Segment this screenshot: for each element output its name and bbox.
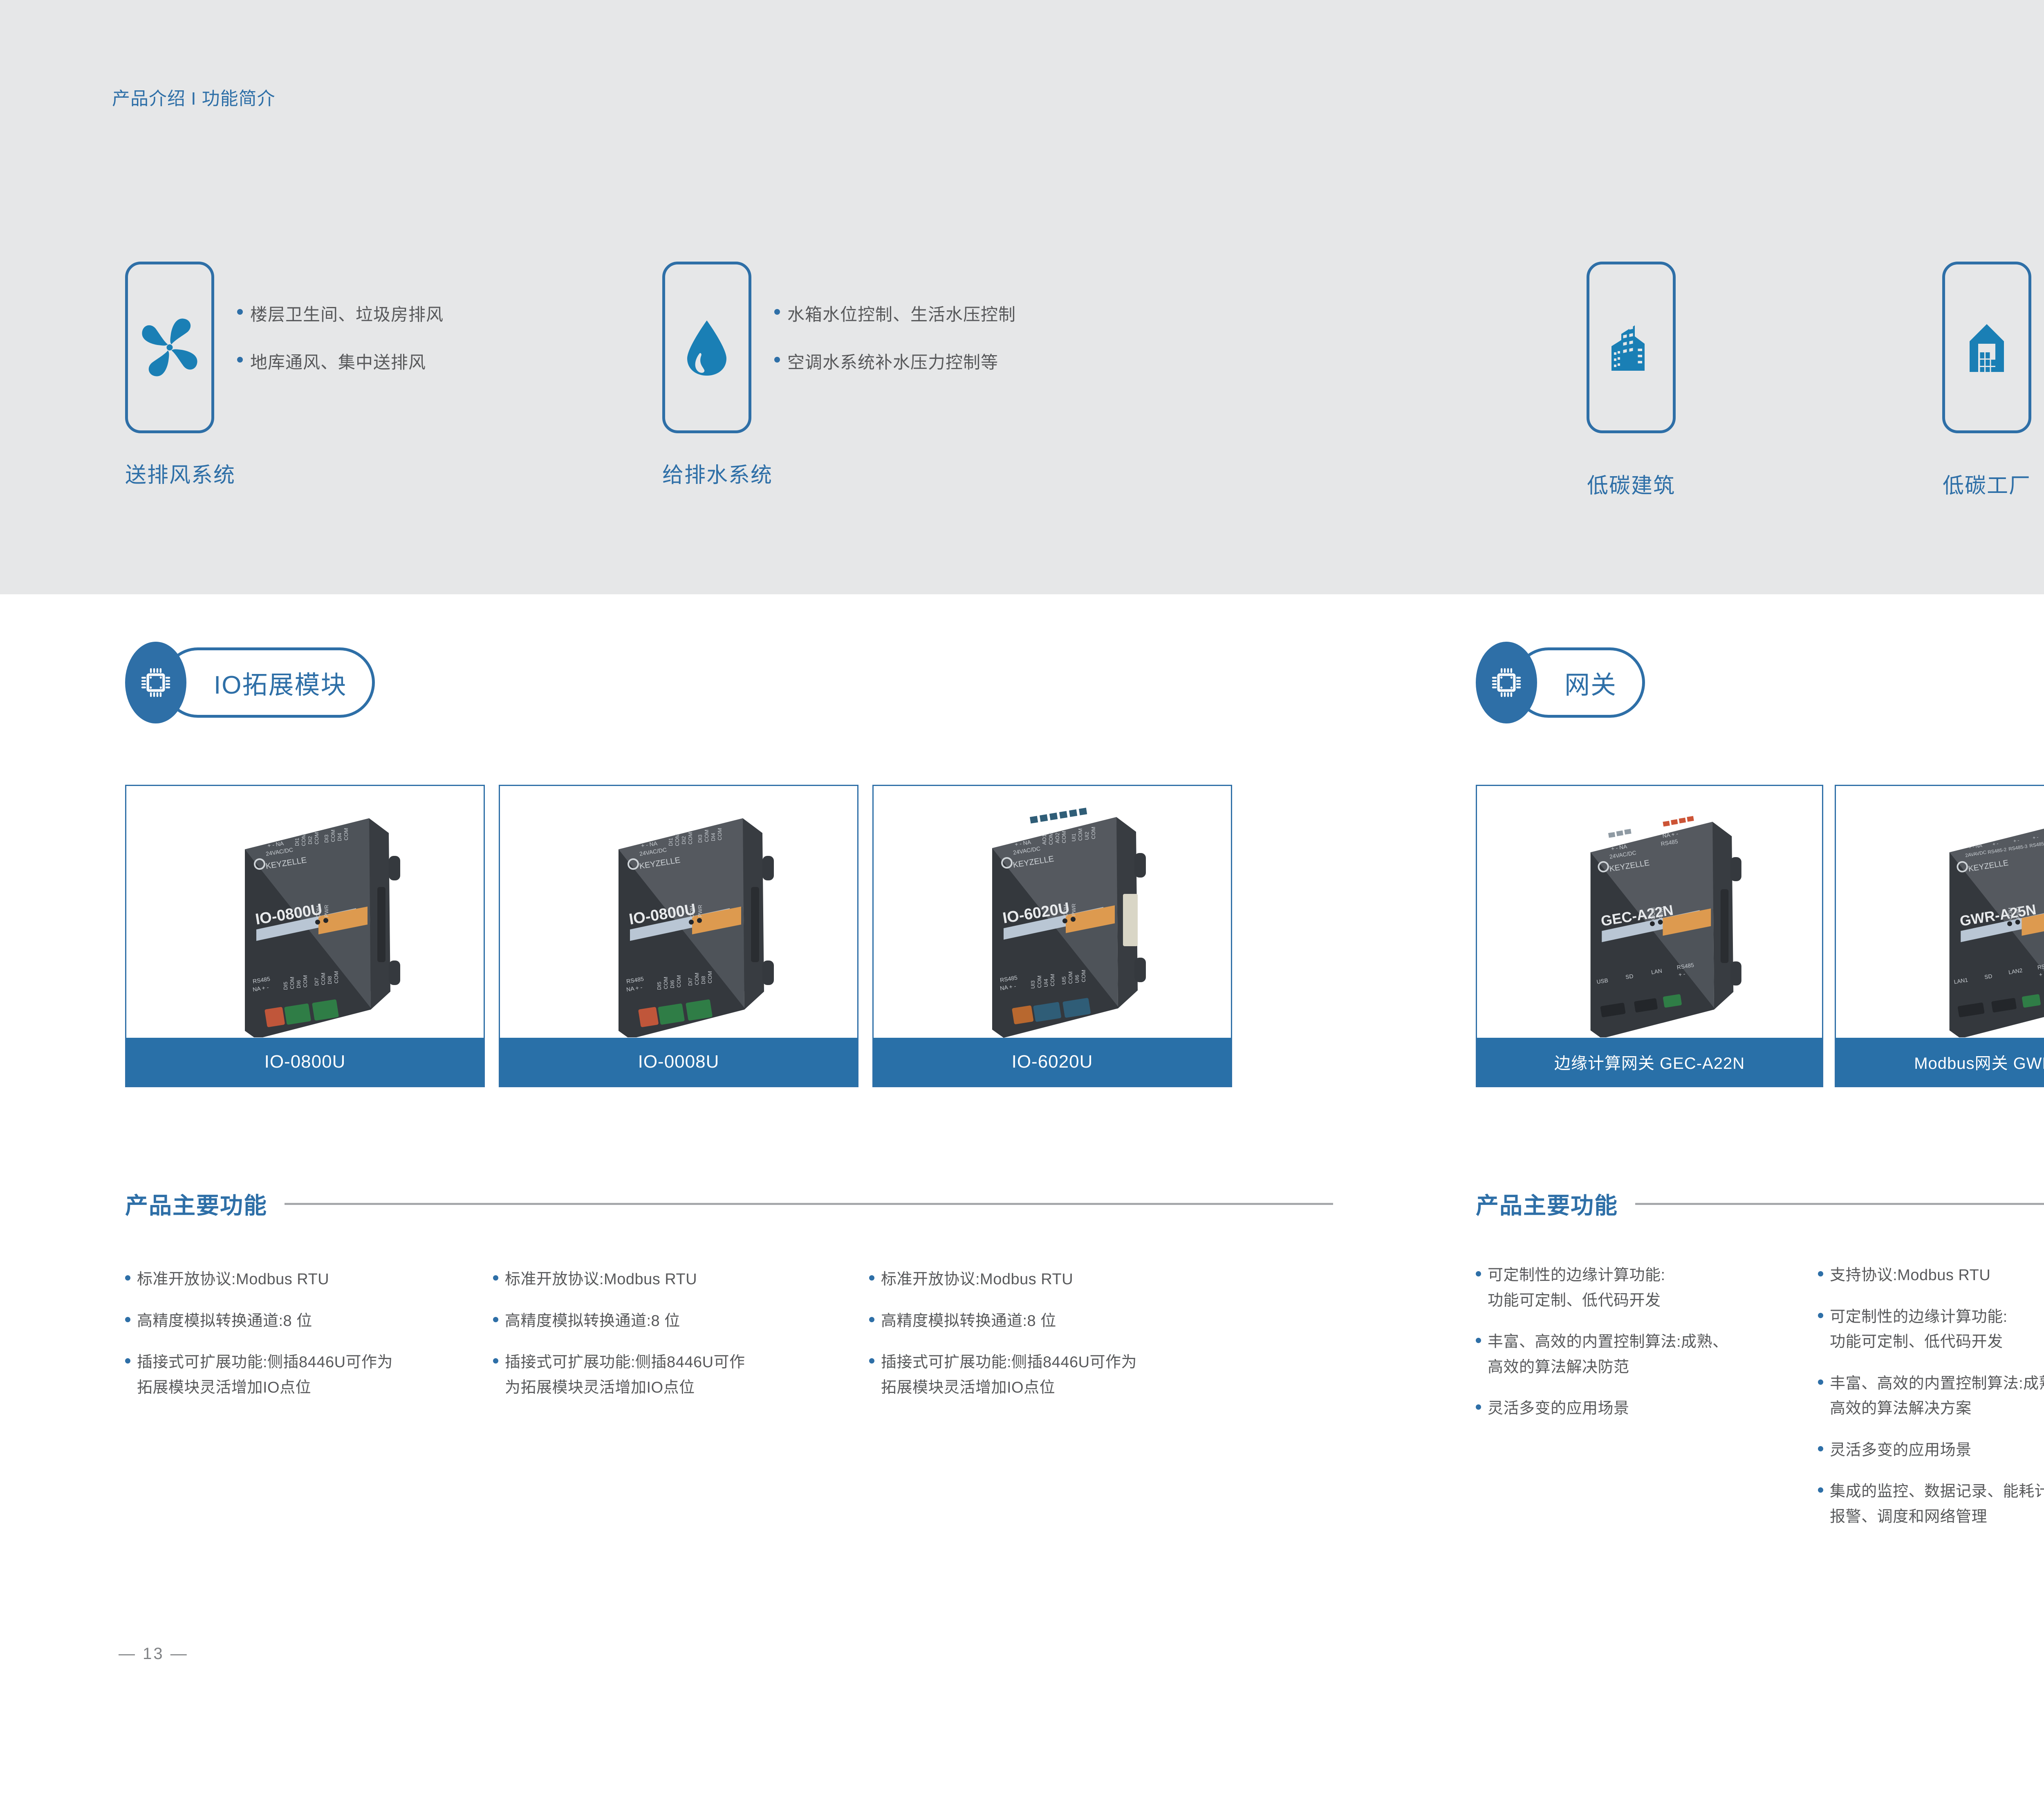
svg-text:AO2: AO2 — [1054, 833, 1060, 843]
product-caption: IO-6020U — [874, 1038, 1231, 1086]
water-drop-icon-card — [662, 262, 751, 433]
svg-text:DI7: DI7 — [687, 978, 693, 986]
feature-text: 标准开放协议:Modbus RTU — [137, 1267, 329, 1292]
bullet-dot — [237, 309, 243, 315]
svg-text:COM: COM — [320, 973, 326, 985]
factory-icon — [1956, 317, 2017, 378]
feature-text: 灵活多变的应用场景 — [1830, 1438, 1972, 1463]
feature-text: 可定制性的边缘计算功能: 功能可定制、低代码开发 — [1488, 1263, 1665, 1313]
feature-text: 标准开放协议:Modbus RTU — [505, 1267, 697, 1292]
scenario-label: 低碳工厂 — [1921, 468, 2044, 499]
chip-icon — [125, 642, 186, 723]
svg-text:COM: COM — [314, 832, 320, 844]
bullet-dot — [493, 1275, 498, 1281]
list-item: 高精度模拟转换通道:8 位 — [493, 1309, 869, 1334]
feature-text: 高精度模拟转换通道:8 位 — [137, 1309, 312, 1334]
svg-text:DI7: DI7 — [314, 978, 320, 986]
svg-text:UI2: UI2 — [1084, 832, 1090, 840]
svg-text:COM: COM — [1048, 833, 1054, 845]
svg-text:DI2: DI2 — [307, 836, 313, 844]
svg-text:PWR: PWR — [697, 905, 703, 917]
svg-text:COM: COM — [343, 828, 349, 840]
bullet-dot — [1818, 1379, 1823, 1385]
svg-text:DI5: DI5 — [656, 982, 662, 990]
svg-text:COM: COM — [1080, 970, 1087, 982]
list-item: 空调水系统补水压力控制等 — [774, 349, 1016, 374]
bullet-dot — [1476, 1271, 1481, 1276]
product-caption: IO-0008U — [500, 1038, 857, 1086]
list-item: 楼层卫生间、垃圾房排风 — [237, 301, 444, 326]
product-card[interactable]: IO-6020U KEYZELLE + - NA 24VAC/DC AO1 CO… — [872, 785, 1232, 1087]
features-title: 产品主要功能 — [1476, 1187, 1618, 1220]
svg-text:UI1: UI1 — [1071, 833, 1077, 842]
features-columns-io: 标准开放协议:Modbus RTU 高精度模拟转换通道:8 位 插接式可扩展功能… — [125, 1267, 1335, 1417]
bullet-dot — [493, 1358, 498, 1364]
features-column: 标准开放协议:Modbus RTU 高精度模拟转换通道:8 位 插接式可扩展功能… — [125, 1267, 493, 1417]
feature-text: 高精度模拟转换通道:8 位 — [505, 1309, 680, 1334]
bullet-dot — [125, 1275, 130, 1281]
svg-text:DI1: DI1 — [668, 838, 674, 846]
svg-text:DI3: DI3 — [323, 835, 329, 843]
list-item: 插接式可扩展功能:侧插8446U可作为拓展模块灵活增加IO点位 — [125, 1350, 493, 1400]
feature-text: 标准开放协议:Modbus RTU — [881, 1267, 1073, 1292]
list-item: 灵活多变的应用场景 — [1476, 1396, 1818, 1422]
svg-text:DI2: DI2 — [681, 836, 687, 844]
bullet-dot — [869, 1275, 874, 1281]
bullet-dot — [1818, 1271, 1823, 1276]
features-column: 标准开放协议:Modbus RTU 高精度模拟转换通道:8 位 插接式可扩展功能… — [493, 1267, 869, 1417]
list-item: 高精度模拟转换通道:8 位 — [869, 1309, 1237, 1334]
svg-text:UI6: UI6 — [1074, 975, 1080, 983]
svg-text:UI4: UI4 — [1043, 979, 1049, 987]
svg-text:SD: SD — [1625, 973, 1634, 981]
list-item: 插接式可扩展功能:侧插8446U可作为拓展模块灵活增加IO点位 — [869, 1350, 1237, 1400]
list-item: 灵活多变的应用场景 — [1818, 1438, 2044, 1463]
svg-text:PWR: PWR — [1071, 904, 1077, 916]
svg-text:UI3: UI3 — [1030, 981, 1036, 989]
svg-text:SD: SD — [1984, 973, 1992, 981]
product-caption: IO-0800U — [126, 1038, 484, 1086]
svg-text:COM: COM — [694, 973, 700, 985]
bullet-dot — [1476, 1338, 1481, 1343]
bullet-dot — [1476, 1404, 1481, 1410]
features-columns-gateway: 可定制性的边缘计算功能: 功能可定制、低代码开发 丰富、高效的内置控制算法:成熟… — [1476, 1263, 2044, 1546]
fan-icon — [139, 317, 200, 378]
list-item: 支持协议:Modbus RTU — [1818, 1263, 2044, 1288]
svg-text:+ -: + - — [1678, 971, 1686, 978]
svg-text:COM: COM — [330, 830, 336, 842]
list-item: 可定制性的边缘计算功能: 功能可定制、低代码开发 — [1476, 1263, 1818, 1313]
features-column: 标准开放协议:Modbus RTU 高精度模拟转换通道:8 位 插接式可扩展功能… — [869, 1267, 1237, 1417]
product-card[interactable]: IO-0800U KEYZELLE + - NA 24VAC/DC DI1 CO… — [499, 785, 858, 1087]
product-card[interactable]: GWR-A25N KEYZELLE + - NA + - + - + - + -… — [1835, 785, 2044, 1087]
svg-text:DI1: DI1 — [294, 838, 300, 846]
features-header-io: 产品主要功能 — [125, 1187, 1333, 1220]
section-badge-gateway[interactable]: 网关 — [1476, 642, 1645, 723]
svg-text:UI5: UI5 — [1061, 976, 1067, 985]
product-photo: IO-0800U KEYZELLE + - NA 24VAC/DC DI1 CO… — [500, 786, 857, 1038]
bullet-dot — [1818, 1313, 1823, 1318]
water-drop-icon — [676, 317, 737, 378]
svg-text:+ -: + - — [2032, 835, 2039, 841]
feature-text: 丰富、高效的内置控制算法:成熟、高效的算法解决方案 — [1830, 1371, 2044, 1422]
scenario-block-building: 低碳建筑 — [1566, 262, 1697, 499]
bullet-dot — [493, 1317, 498, 1322]
svg-text:DI4: DI4 — [710, 833, 716, 841]
svg-text:COM: COM — [1090, 827, 1096, 839]
product-card-row-gateway: GEC-A22N KEYZELLE + - NA 24VAC/DC NA + -… — [1476, 785, 2044, 1087]
section-badge-pill: IO拓展模块 — [163, 647, 375, 718]
svg-text:COM: COM — [1062, 905, 1069, 917]
svg-text:COM: COM — [1036, 976, 1042, 988]
svg-text:COM: COM — [1067, 972, 1074, 984]
svg-text:DI8: DI8 — [327, 976, 333, 984]
feature-text: 插接式可扩展功能:侧插8446U可作为拓展模块灵活增加IO点位 — [505, 1350, 745, 1400]
svg-text:COM: COM — [717, 828, 723, 840]
water-bullet-list: 水箱水位控制、生活水压控制 空调水系统补水压力控制等 — [774, 262, 1016, 374]
features-column: 可定制性的边缘计算功能: 功能可定制、低代码开发 丰富、高效的内置控制算法:成熟… — [1476, 1263, 1818, 1546]
product-photo: IO-6020U KEYZELLE + - NA 24VAC/DC AO1 CO… — [874, 786, 1231, 1038]
feature-text: 可定制性的边缘计算功能:功能可定制、低代码开发 — [1830, 1305, 2008, 1355]
svg-text:COM: COM — [707, 971, 713, 983]
product-caption: Modbus网关 GWR-A25N — [1836, 1038, 2044, 1086]
bullet-dot — [1818, 1446, 1823, 1451]
application-block-water: 水箱水位控制、生活水压控制 空调水系统补水压力控制等 — [662, 262, 1016, 433]
svg-text:DI3: DI3 — [697, 835, 703, 843]
scenario-block-factory: 低碳工厂 — [1921, 262, 2044, 499]
svg-text:COM: COM — [689, 906, 695, 918]
svg-text:+ -: + - — [2039, 971, 2044, 978]
feature-text: 丰富、高效的内置控制算法:成熟、高效的算法解决防范 — [1488, 1330, 1728, 1380]
factory-icon-card — [1942, 262, 2031, 433]
svg-text:COM: COM — [302, 975, 308, 987]
svg-text:COM: COM — [300, 834, 307, 846]
features-header-gateway: 产品主要功能 — [1476, 1187, 2044, 1220]
list-item: 地库通风、集中送排风 — [237, 349, 444, 374]
svg-text:DI8: DI8 — [700, 976, 706, 984]
svg-text:COM: COM — [315, 906, 321, 918]
bullet-dot — [774, 309, 780, 315]
features-divider — [285, 1203, 1333, 1205]
feature-text: 插接式可扩展功能:侧插8446U可作为拓展模块灵活增加IO点位 — [881, 1350, 1137, 1400]
svg-text:+ -: + - — [1992, 841, 1999, 847]
bullet-text: 空调水系统补水压力控制等 — [787, 349, 998, 374]
product-card[interactable]: IO-0800U KEYZELLE + - NA 24VAC/DC DI1 CO… — [125, 785, 485, 1087]
section-badge-io-module[interactable]: IO拓展模块 — [125, 642, 375, 723]
feature-text: 支持协议:Modbus RTU — [1830, 1263, 1990, 1288]
features-divider — [1635, 1203, 2044, 1205]
product-card[interactable]: GEC-A22N KEYZELLE + - NA 24VAC/DC NA + -… — [1476, 785, 1823, 1087]
product-caption: 边缘计算网关 GEC-A22N — [1477, 1038, 1822, 1086]
product-card-row-io: IO-0800U KEYZELLE + - NA 24VAC/DC DI1 CO… — [125, 785, 1232, 1087]
fan-icon-card — [125, 262, 214, 433]
svg-text:COM: COM — [1077, 828, 1083, 841]
features-column: 支持协议:Modbus RTU 可定制性的边缘计算功能:功能可定制、低代码开发 … — [1818, 1263, 2044, 1546]
section-badge-label: 网关 — [1564, 664, 1617, 701]
svg-text:COM: COM — [663, 977, 669, 989]
list-item: 丰富、高效的内置控制算法:成熟、高效的算法解决防范 — [1476, 1330, 1818, 1380]
svg-text:COM: COM — [1650, 907, 1656, 920]
list-item: 集成的监控、数据记录、能耗计量、报警、调度和网络管理 — [1818, 1479, 2044, 1529]
product-photo: GEC-A22N KEYZELLE + - NA 24VAC/DC NA + -… — [1477, 786, 1822, 1038]
page-number-left: — 13 — — [119, 1645, 188, 1663]
application-label-ventilation: 送排风系统 — [125, 458, 235, 488]
svg-text:+ -: + - — [2013, 838, 2019, 844]
list-item: 高精度模拟转换通道:8 位 — [125, 1309, 493, 1334]
list-item: 标准开放协议:Modbus RTU — [125, 1267, 493, 1292]
feature-text: 集成的监控、数据记录、能耗计量、报警、调度和网络管理 — [1830, 1479, 2044, 1529]
svg-text:COM: COM — [1049, 974, 1056, 986]
feature-text: 灵活多变的应用场景 — [1488, 1396, 1629, 1422]
svg-text:PWR: PWR — [1658, 907, 1664, 919]
svg-text:COM: COM — [704, 830, 710, 842]
ventilation-bullet-list: 楼层卫生间、垃圾房排风 地库通风、集中送排风 — [237, 262, 444, 374]
feature-text: 高精度模拟转换通道:8 位 — [881, 1309, 1056, 1334]
svg-text:COM: COM — [674, 834, 680, 846]
feature-text: 插接式可扩展功能:侧插8446U可作为拓展模块灵活增加IO点位 — [137, 1350, 393, 1400]
list-item: 水箱水位控制、生活水压控制 — [774, 301, 1016, 326]
bullet-dot — [774, 357, 780, 363]
list-item: 标准开放协议:Modbus RTU — [869, 1267, 1237, 1292]
svg-text:PWR: PWR — [323, 905, 329, 917]
svg-text:DI6: DI6 — [296, 980, 302, 988]
svg-text:COM: COM — [2007, 907, 2013, 920]
bullet-dot — [869, 1358, 874, 1364]
bullet-dot — [237, 357, 243, 363]
bullet-text: 水箱水位控制、生活水压控制 — [787, 301, 1016, 326]
application-label-water: 给排水系统 — [662, 458, 773, 488]
list-item: 丰富、高效的内置控制算法:成熟、高效的算法解决方案 — [1818, 1371, 2044, 1422]
office-building-icon — [1600, 317, 1662, 378]
scenario-label: 低碳建筑 — [1566, 468, 1697, 499]
svg-text:COM: COM — [289, 977, 295, 989]
list-item: 标准开放协议:Modbus RTU — [493, 1267, 869, 1292]
bullet-dot — [869, 1317, 874, 1322]
list-item: 插接式可扩展功能:侧插8446U可作为拓展模块灵活增加IO点位 — [493, 1350, 869, 1400]
list-item: 可定制性的边缘计算功能:功能可定制、低代码开发 — [1818, 1305, 2044, 1355]
svg-text:DI4: DI4 — [336, 833, 343, 841]
svg-text:AO1: AO1 — [1041, 834, 1047, 845]
svg-text:COM: COM — [1061, 831, 1067, 843]
bullet-text: 楼层卫生间、垃圾房排风 — [250, 301, 444, 326]
svg-text:COM: COM — [687, 832, 693, 844]
running-head-left: 产品介绍 I 功能简介 — [112, 84, 276, 110]
svg-text:COM: COM — [333, 971, 339, 983]
svg-text:DI5: DI5 — [282, 982, 289, 990]
bullet-dot — [125, 1317, 130, 1322]
office-building-icon-card — [1587, 262, 1676, 433]
product-photo: IO-0800U KEYZELLE + - NA 24VAC/DC DI1 CO… — [126, 786, 484, 1038]
features-title: 产品主要功能 — [125, 1187, 267, 1220]
bullet-dot — [125, 1358, 130, 1364]
svg-text:DI6: DI6 — [669, 980, 675, 988]
application-block-ventilation: 楼层卫生间、垃圾房排风 地库通风、集中送排风 — [125, 262, 444, 433]
bullet-dot — [1818, 1487, 1823, 1493]
svg-text:PWR: PWR — [2015, 907, 2022, 919]
bullet-text: 地库通风、集中送排风 — [250, 349, 426, 374]
section-badge-label: IO拓展模块 — [214, 664, 347, 701]
product-photo: GWR-A25N KEYZELLE + - NA + - + - + - + -… — [1836, 786, 2044, 1038]
svg-text:COM: COM — [676, 975, 682, 987]
chip-icon — [1476, 642, 1537, 723]
